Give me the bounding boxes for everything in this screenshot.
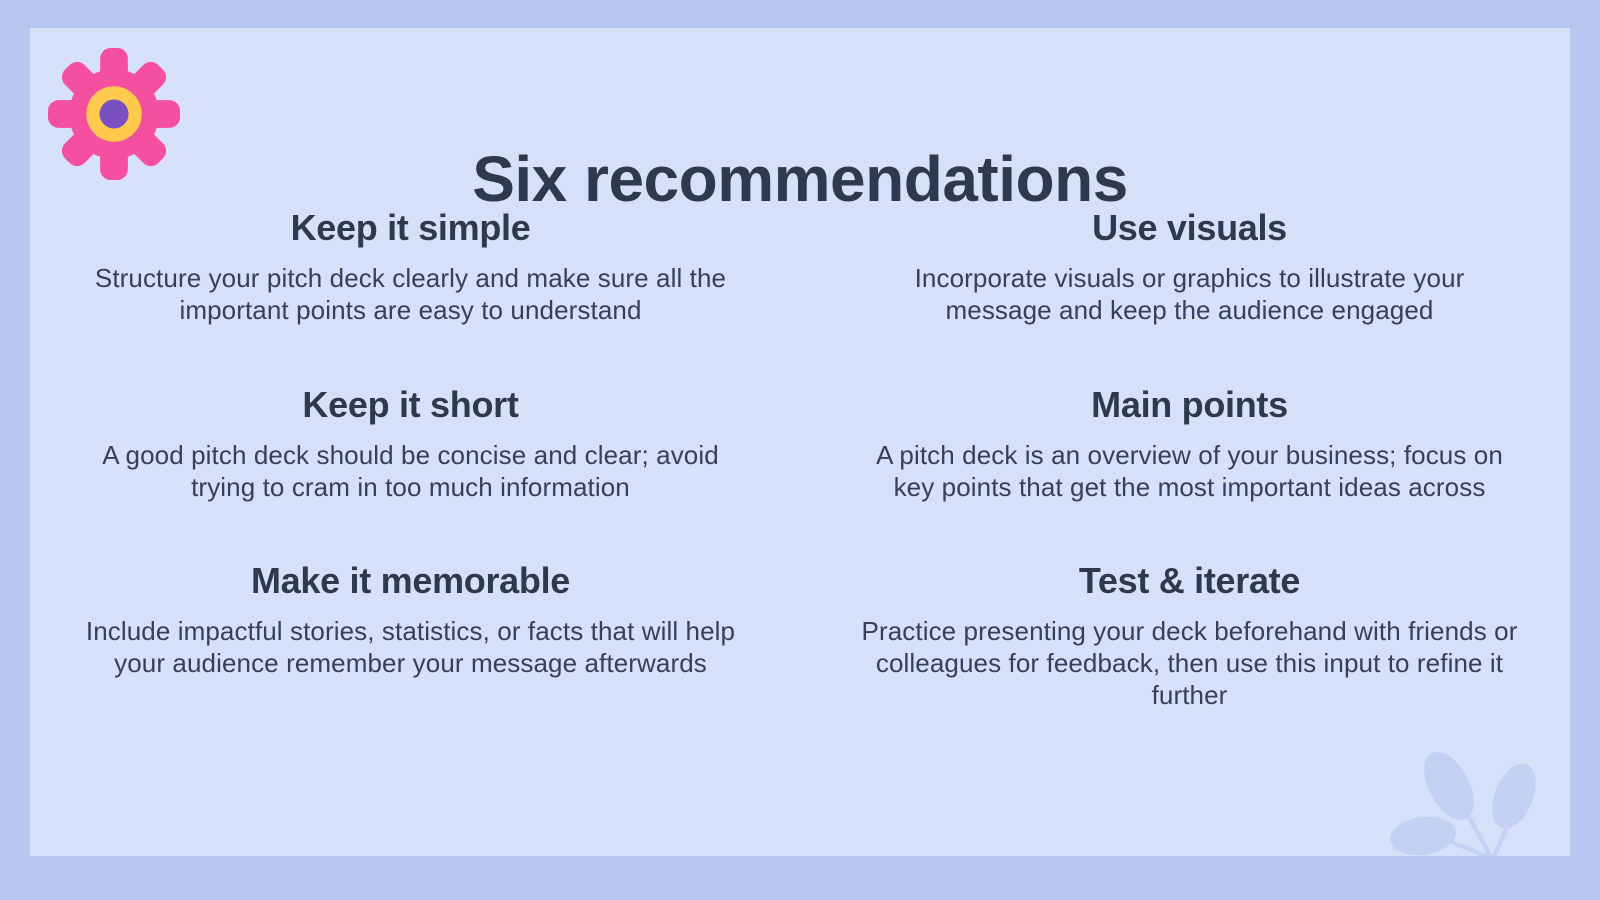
recommendation-body: A pitch deck is an overview of your busi…: [861, 440, 1518, 503]
recommendation-item-4: Main points A pitch deck is an overview …: [839, 383, 1540, 504]
recommendation-title: Use visuals: [861, 206, 1518, 249]
recommendation-body: A good pitch deck should be concise and …: [82, 440, 739, 503]
recommendation-body: Include impactful stories, statistics, o…: [82, 616, 739, 679]
recommendation-item-2: Use visuals Incorporate visuals or graph…: [839, 206, 1540, 327]
recommendation-body: Practice presenting your deck beforehand…: [861, 616, 1518, 711]
recommendation-item-5: Make it memorable Include impactful stor…: [60, 559, 761, 711]
recommendation-title: Keep it simple: [82, 206, 739, 249]
recommendations-grid: Keep it simple Structure your pitch deck…: [60, 206, 1540, 712]
recommendation-body: Structure your pitch deck clearly and ma…: [82, 263, 739, 326]
recommendation-title: Make it memorable: [82, 559, 739, 602]
recommendation-item-3: Keep it short A good pitch deck should b…: [60, 383, 761, 504]
recommendation-title: Main points: [861, 383, 1518, 426]
recommendation-title: Keep it short: [82, 383, 739, 426]
recommendation-item-6: Test & iterate Practice presenting your …: [839, 559, 1540, 711]
recommendation-body: Incorporate visuals or graphics to illus…: [861, 263, 1518, 326]
recommendation-item-1: Keep it simple Structure your pitch deck…: [60, 206, 761, 327]
recommendation-title: Test & iterate: [861, 559, 1518, 602]
slide-panel: Six recommendations Keep it simple Struc…: [30, 28, 1570, 856]
leaf-sprig-icon: [1386, 734, 1570, 856]
slide-canvas: Six recommendations Keep it simple Struc…: [0, 0, 1600, 900]
